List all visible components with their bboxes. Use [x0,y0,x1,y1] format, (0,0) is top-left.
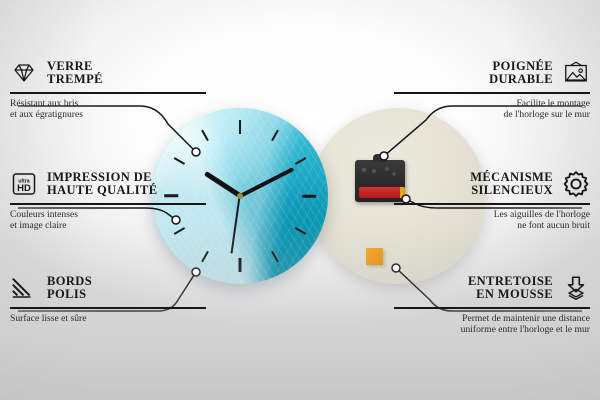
callout-description: Couleurs intenses et image claire [10,209,206,232]
callout-impression-haute-qualite: ultra HD IMPRESSION DE HAUTE QUALITÉ Cou… [10,168,206,232]
diamond-icon [10,59,38,87]
callout-divider [394,92,590,94]
callout-title: MÉCANISME SILENCIEUX [470,171,553,198]
callout-title: VERRE TREMPÉ [47,60,103,87]
callout-description: Résistant aux bris et aux égratignures [10,98,206,121]
gear-icon [562,170,590,198]
callout-divider [394,203,590,205]
callout-divider [10,307,206,309]
callout-divider [394,307,590,309]
tick-marker [239,258,242,272]
polished-edges-icon [10,274,38,302]
callout-header: BORDS POLIS [10,272,206,304]
callout-mecanisme-silencieux: MÉCANISME SILENCIEUX Les aiguilles de l'… [394,168,590,232]
svg-text:HD: HD [17,183,31,194]
mechanism-detail [360,166,398,180]
callout-title: ENTRETOISE EN MOUSSE [468,275,553,302]
callout-description: Permet de maintenir une distance uniform… [394,313,590,336]
callout-header: ENTRETOISE EN MOUSSE [394,272,590,304]
tick-marker [302,195,316,198]
callout-title: BORDS POLIS [47,275,92,302]
callout-header: MÉCANISME SILENCIEUX [394,168,590,200]
ultra-hd-icon: ultra HD [10,170,38,198]
callout-title: POIGNÉE DURABLE [489,60,553,87]
callout-title: IMPRESSION DE HAUTE QUALITÉ [47,171,157,198]
callout-divider [10,92,206,94]
callout-header: VERRE TREMPÉ [10,57,206,89]
mechanism-hanger-tab [373,154,387,162]
callout-description: Surface lisse et sûre [10,313,206,325]
callout-header: POIGNÉE DURABLE [394,57,590,89]
tick-marker [239,120,242,134]
callout-entretoise-en-mousse: ENTRETOISE EN MOUSSE Permet de maintenir… [394,272,590,336]
picture-hanger-icon [562,59,590,87]
infographic-canvas: VERRE TREMPÉ Résistant aux bris et aux é… [0,0,600,400]
callout-header: ultra HD IMPRESSION DE HAUTE QUALITÉ [10,168,206,200]
callout-description: Facilite le montage de l'horloge sur le … [394,98,590,121]
foam-spacer [366,248,383,265]
callout-verre-trempe: VERRE TREMPÉ Résistant aux bris et aux é… [10,57,206,121]
callout-description: Les aiguilles de l'horloge ne font aucun… [394,209,590,232]
callout-poignee-durable: POIGNÉE DURABLE Facilite le montage de l… [394,57,590,121]
foam-spacer-icon [562,274,590,302]
callout-bords-polis: BORDS POLIS Surface lisse et sûre [10,272,206,324]
clock-hand-cap [237,193,243,199]
callout-divider [10,203,206,205]
